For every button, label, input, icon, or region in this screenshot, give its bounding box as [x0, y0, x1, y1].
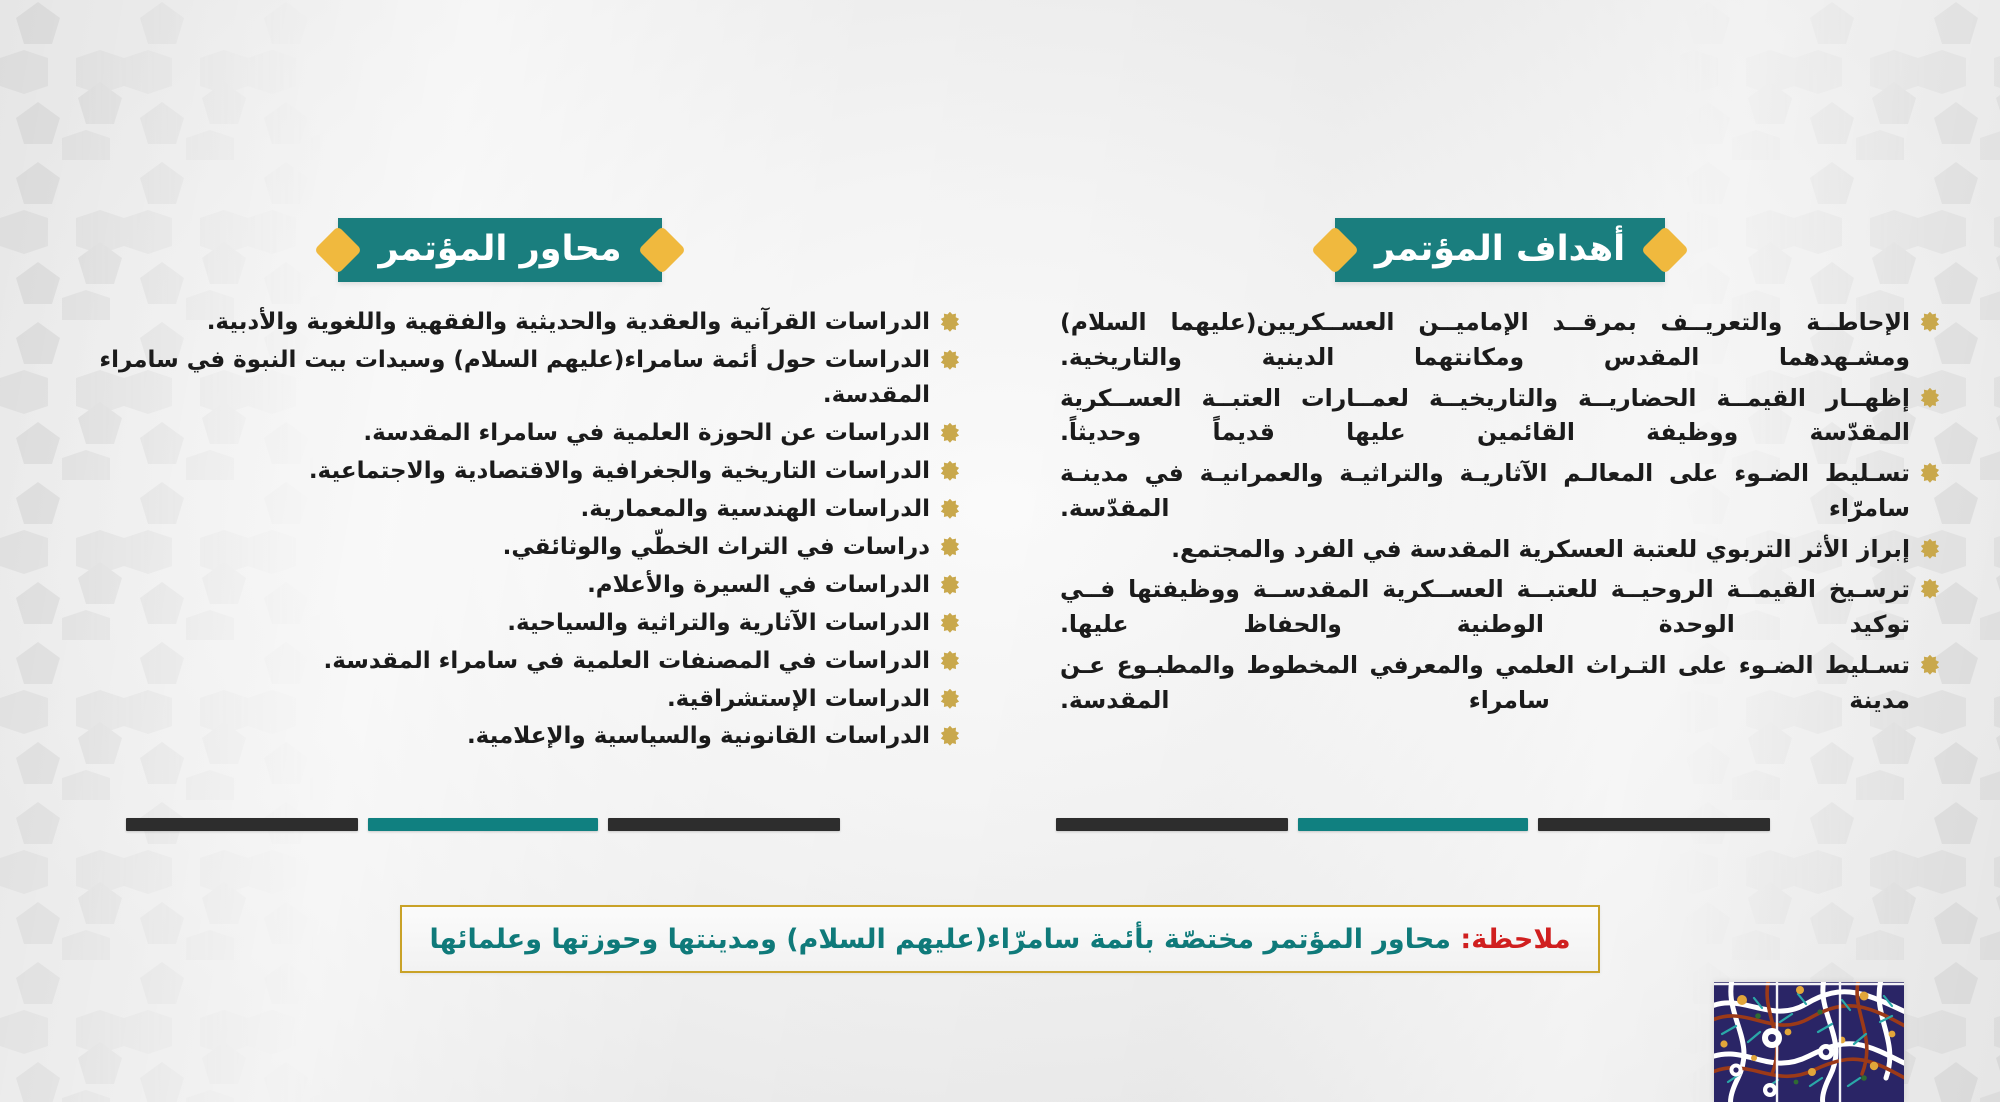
diamond-accent-icon — [637, 226, 685, 274]
separator-segment-teal — [368, 818, 598, 831]
eight-point-star-icon — [940, 461, 960, 485]
theme-text: الدراسات عن الحوزة العلمية في سامراء الم… — [60, 416, 930, 451]
list-item: الدراسات الآثارية والتراثية والسياحية. — [60, 606, 960, 641]
themes-banner: محاور المؤتمر — [338, 218, 661, 282]
objectives-title: أهداف المؤتمر — [1375, 232, 1625, 267]
list-item: إبراز الأثر التربوي للعتبة العسكرية المق… — [1060, 532, 1940, 567]
themes-list: الدراسات القرآنية والعقدية والحديثية وال… — [60, 305, 960, 754]
list-item: دراسات في التراث الخطّي والوثائقي. — [60, 530, 960, 565]
note-label: ملاحظة: — [1460, 924, 1570, 955]
objectives-separator — [1056, 818, 1770, 831]
list-item: الدراسات في المصنفات العلمية في سامراء ا… — [60, 644, 960, 679]
objectives-list: الإحاطــة والتعريــف بمرقــد الإماميــن … — [1060, 305, 1940, 717]
eight-point-star-icon — [940, 499, 960, 523]
theme-text: دراسات في التراث الخطّي والوثائقي. — [60, 530, 930, 565]
note-body: محاور المؤتمر مختصّة بأئمة سامرّاء(عليهم… — [429, 924, 1460, 955]
separator-segment-dark — [1056, 818, 1288, 831]
theme-text: الدراسات الإستشراقية. — [60, 682, 930, 717]
diamond-accent-icon — [1641, 226, 1689, 274]
list-item: الدراسات القرآنية والعقدية والحديثية وال… — [60, 305, 960, 340]
theme-text: الدراسات القرآنية والعقدية والحديثية وال… — [60, 305, 930, 340]
eight-point-star-icon — [940, 575, 960, 599]
theme-text: الدراسات القانونية والسياسية والإعلامية. — [60, 719, 930, 754]
theme-text: الدراسات في السيرة والأعلام. — [60, 568, 930, 603]
themes-title: محاور المؤتمر — [378, 232, 621, 267]
list-item: الدراسات القانونية والسياسية والإعلامية. — [60, 719, 960, 754]
objective-text: ترسـيخ القيمــة الروحيــة للعتبــة العسـ… — [1060, 572, 1910, 642]
objective-text: إظهــار القيمــة الحضاريــة والتاريخيــة… — [1060, 381, 1910, 451]
separator-segment-dark — [608, 818, 840, 831]
objectives-column: أهداف المؤتمر الإحاطــة والتعريــف بمرقـ… — [1000, 0, 2000, 880]
note-text: ملاحظة: محاور المؤتمر مختصّة بأئمة سامرّ… — [429, 926, 1570, 953]
list-item: الدراسات عن الحوزة العلمية في سامراء الم… — [60, 416, 960, 451]
list-item: الدراسات الهندسية والمعمارية. — [60, 492, 960, 527]
poster-columns: أهداف المؤتمر الإحاطــة والتعريــف بمرقـ… — [0, 0, 2000, 880]
objective-text: تسـليط الضـوء على التـراث العلمي والمعرف… — [1060, 648, 1910, 718]
list-item: تسـليط الضـوء على التـراث العلمي والمعرف… — [1060, 648, 1940, 718]
eight-point-star-icon — [1920, 312, 1940, 336]
eight-point-star-icon — [940, 537, 960, 561]
eight-point-star-icon — [1920, 579, 1940, 603]
list-item: الدراسات حول أئمة سامراء(عليهم السلام) و… — [60, 343, 960, 413]
eight-point-star-icon — [940, 423, 960, 447]
theme-text: الدراسات الآثارية والتراثية والسياحية. — [60, 606, 930, 641]
islamic-tile-ornament — [1714, 982, 1904, 1102]
note-box: ملاحظة: محاور المؤتمر مختصّة بأئمة سامرّ… — [400, 905, 1600, 973]
list-item: الدراسات الإستشراقية. — [60, 682, 960, 717]
themes-column: محاور المؤتمر الدراسات القرآنية والعقدية… — [0, 0, 1000, 880]
eight-point-star-icon — [940, 726, 960, 750]
theme-text: الدراسات في المصنفات العلمية في سامراء ا… — [60, 644, 930, 679]
eight-point-star-icon — [940, 613, 960, 637]
objectives-banner: أهداف المؤتمر — [1335, 218, 1665, 282]
list-item: الإحاطــة والتعريــف بمرقــد الإماميــن … — [1060, 305, 1940, 375]
separator-segment-dark — [126, 818, 358, 831]
themes-banner-row: محاور المؤتمر — [0, 218, 1000, 282]
eight-point-star-icon — [940, 350, 960, 374]
eight-point-star-icon — [1920, 388, 1940, 412]
diamond-accent-icon — [1311, 226, 1359, 274]
theme-text: الدراسات حول أئمة سامراء(عليهم السلام) و… — [60, 343, 930, 413]
list-item: إظهــار القيمــة الحضاريــة والتاريخيــة… — [1060, 381, 1940, 451]
separator-segment-teal — [1298, 818, 1528, 831]
separator-segment-dark — [1538, 818, 1770, 831]
eight-point-star-icon — [1920, 655, 1940, 679]
eight-point-star-icon — [940, 312, 960, 336]
objective-text: تسـليط الضـوء على المعالـم الآثاريـة وال… — [1060, 456, 1910, 526]
diamond-accent-icon — [314, 226, 362, 274]
list-item: الدراسات في السيرة والأعلام. — [60, 568, 960, 603]
theme-text: الدراسات الهندسية والمعمارية. — [60, 492, 930, 527]
eight-point-star-icon — [1920, 539, 1940, 563]
list-item: الدراسات التاريخية والجغرافية والاقتصادي… — [60, 454, 960, 489]
objective-text: إبراز الأثر التربوي للعتبة العسكرية المق… — [1171, 532, 1910, 567]
eight-point-star-icon — [1920, 463, 1940, 487]
theme-text: الدراسات التاريخية والجغرافية والاقتصادي… — [60, 454, 930, 489]
objectives-banner-row: أهداف المؤتمر — [1000, 218, 2000, 282]
list-item: ترسـيخ القيمــة الروحيــة للعتبــة العسـ… — [1060, 572, 1940, 642]
eight-point-star-icon — [940, 651, 960, 675]
eight-point-star-icon — [940, 689, 960, 713]
themes-separator — [126, 818, 840, 831]
list-item: تسـليط الضـوء على المعالـم الآثاريـة وال… — [1060, 456, 1940, 526]
objective-text: الإحاطــة والتعريــف بمرقــد الإماميــن … — [1060, 305, 1910, 375]
